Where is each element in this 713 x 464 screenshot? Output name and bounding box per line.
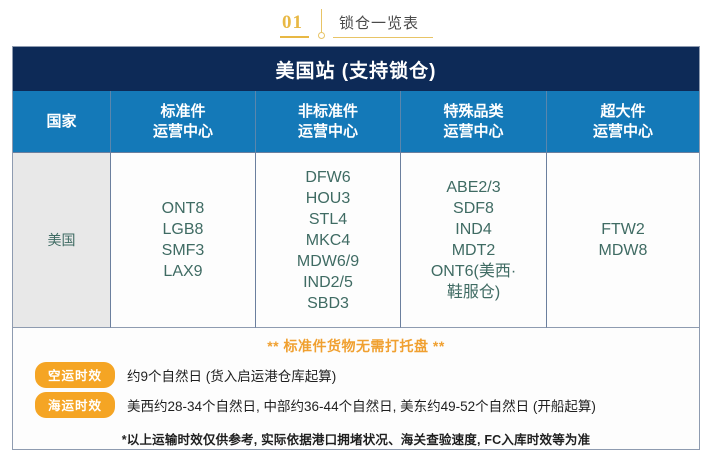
fc-code: SMF3	[162, 240, 205, 261]
fc-code: ONT8	[162, 198, 205, 219]
column-header-oversize: 超大件 运营中心	[547, 91, 699, 153]
air-freight-badge: 空运时效	[35, 362, 115, 388]
fc-code: LAX9	[163, 261, 202, 282]
table-row: 美国 ONT8 LGB8 SMF3 LAX9 DFW6 HOU3 STL4 MK…	[13, 153, 699, 328]
cell-country: 美国	[13, 153, 111, 328]
section-divider-icon	[313, 8, 331, 38]
column-header-non-standard-line2: 运营中心	[298, 122, 358, 142]
fc-code: MKC4	[306, 230, 350, 251]
section-header-inner: 01 锁仓一览表	[280, 4, 433, 38]
column-header-special-line1: 特殊品类	[443, 102, 503, 122]
column-header-oversize-line1: 超大件	[600, 102, 645, 122]
column-header-special: 特殊品类 运营中心	[401, 91, 547, 153]
column-header-oversize-line2: 运营中心	[593, 122, 653, 142]
fc-code: 鞋服仓)	[447, 282, 500, 303]
sea-freight-row: 海运时效 美西约28-34个自然日, 中部约36-44个自然日, 美东约49-5…	[13, 390, 699, 420]
column-header-non-standard: 非标准件 运营中心	[256, 91, 401, 153]
section-number: 01	[280, 12, 309, 38]
cell-non-standard: DFW6 HOU3 STL4 MKC4 MDW6/9 IND2/5 SBD3	[256, 153, 401, 328]
divider-dot-icon	[318, 32, 325, 39]
cell-special: ABE2/3 SDF8 IND4 MDT2 ONT6(美西· 鞋服仓)	[401, 153, 547, 328]
column-header-non-standard-line1: 非标准件	[298, 102, 358, 122]
fc-code: ABE2/3	[446, 177, 500, 198]
air-freight-row: 空运时效 约9个自然日 (货入启运港仓库起算)	[13, 360, 699, 390]
fc-code: HOU3	[306, 188, 350, 209]
sea-freight-badge: 海运时效	[35, 392, 115, 418]
fc-code: SDF8	[453, 198, 494, 219]
cell-country-value: 美国	[48, 230, 76, 251]
notes-section: ** 标准件货物无需打托盘 ** 空运时效 约9个自然日 (货入启运港仓库起算)…	[13, 328, 699, 448]
sea-freight-text: 美西约28-34个自然日, 中部约36-44个自然日, 美东约49-52个自然日…	[115, 395, 596, 415]
pallet-notice: ** 标准件货物无需打托盘 **	[13, 328, 699, 360]
table-title: 美国站 (支持锁仓)	[13, 47, 699, 91]
air-freight-text: 约9个自然日 (货入启运港仓库起算)	[115, 365, 336, 385]
fc-code: IND2/5	[303, 272, 353, 293]
fc-code: STL4	[309, 209, 347, 230]
column-header-standard-line1: 标准件	[160, 102, 205, 122]
footnote: *以上运输时效仅供参考, 实际依据港口拥堵状况、海关查验速度, FC入库时效等为…	[13, 420, 699, 448]
column-header-country-line1: 国家	[46, 112, 76, 132]
divider-bar	[321, 9, 323, 33]
column-header-country: 国家	[13, 91, 111, 153]
fc-code: LGB8	[163, 219, 204, 240]
cell-oversize: FTW2 MDW8	[547, 153, 699, 328]
column-header-standard: 标准件 运营中心	[111, 91, 256, 153]
fc-code: MDW6/9	[297, 251, 359, 272]
column-header-special-line2: 运营中心	[443, 122, 503, 142]
section-header: 01 锁仓一览表	[0, 0, 713, 42]
column-header-standard-line2: 运营中心	[153, 122, 213, 142]
fc-code: IND4	[455, 219, 491, 240]
cell-standard: ONT8 LGB8 SMF3 LAX9	[111, 153, 256, 328]
fc-code: MDT2	[452, 240, 496, 261]
lockup-table-card: 美国站 (支持锁仓) 国家 标准件 运营中心 非标准件 运营中心 特殊品类 运营…	[12, 46, 700, 450]
fc-code: SBD3	[307, 293, 349, 314]
fc-code: FTW2	[601, 219, 645, 240]
fc-code: ONT6(美西·	[431, 261, 516, 282]
fc-code: MDW8	[599, 240, 648, 261]
table-header-row: 国家 标准件 运营中心 非标准件 运营中心 特殊品类 运营中心 超大件 运营中心	[13, 91, 699, 153]
section-title: 锁仓一览表	[333, 13, 433, 38]
fc-code: DFW6	[305, 167, 350, 188]
